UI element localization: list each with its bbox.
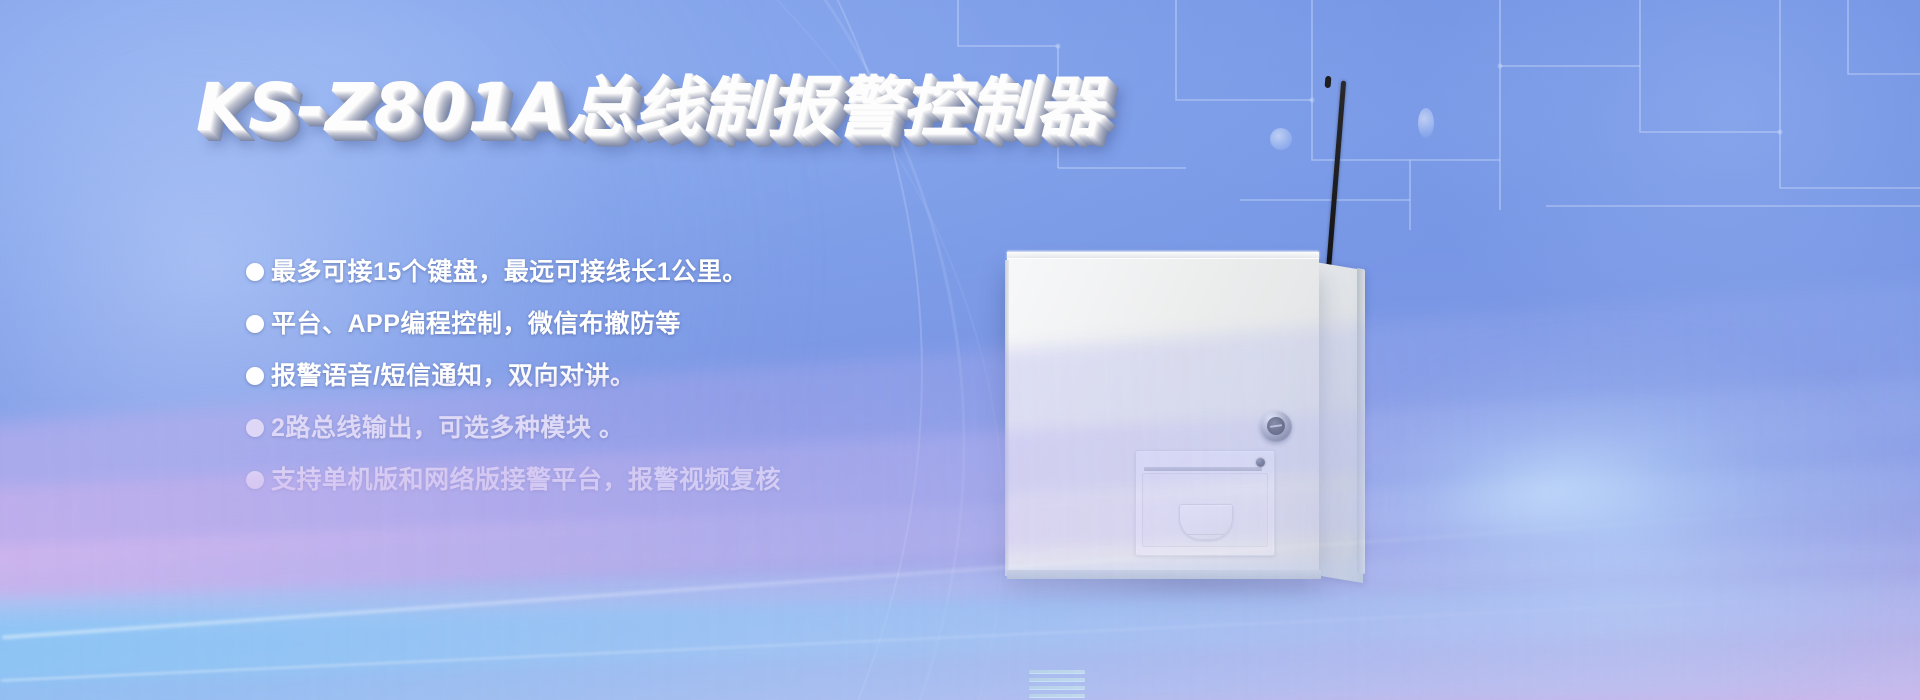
vent-slot bbox=[1029, 686, 1085, 689]
feature-list: 最多可接15个键盘，最远可接线长1公里。 平台、APP编程控制，微信布撤防等 报… bbox=[246, 252, 1086, 500]
bullet-icon bbox=[246, 419, 264, 437]
keypad-knob bbox=[1179, 504, 1233, 540]
feature-text: 平台、APP编程控制，微信布撤防等 bbox=[271, 304, 681, 344]
antenna-tip bbox=[1325, 76, 1332, 88]
bullet-icon bbox=[246, 471, 264, 489]
keypad-knob-line bbox=[1188, 534, 1224, 535]
vent-slot bbox=[1029, 670, 1085, 673]
bullet-icon bbox=[246, 315, 264, 333]
feature-text: 2路总线输出，可选多种模块 。 bbox=[271, 408, 624, 448]
feature-text: 报警语音/短信通知，双向对讲。 bbox=[271, 356, 635, 396]
feature-item: 最多可接15个键盘，最远可接线长1公里。 bbox=[246, 252, 1086, 292]
feature-text: 支持单机版和网络版接警平台，报警视频复核 bbox=[271, 460, 781, 500]
feature-item: 平台、APP编程控制，微信布撤防等 bbox=[246, 304, 1086, 344]
vent-slot bbox=[1029, 678, 1085, 681]
keypad-window-slot bbox=[1144, 467, 1262, 471]
enclosure-left-edge bbox=[1005, 260, 1009, 576]
bullet-icon bbox=[246, 263, 264, 281]
feature-item: 2路总线输出，可选多种模块 。 bbox=[246, 408, 1086, 448]
page-title: KS-Z801A总线制报警控制器 bbox=[196, 75, 1103, 141]
feature-text: 最多可接15个键盘，最远可接线长1公里。 bbox=[271, 252, 748, 292]
feature-item: 支持单机版和网络版接警平台，报警视频复核 bbox=[246, 460, 1086, 500]
ventilation-slots bbox=[1029, 670, 1085, 700]
bullet-icon bbox=[246, 367, 264, 385]
product-banner: KS-Z801A总线制报警控制器 最多可接15个键盘，最远可接线长1公里。 平台… bbox=[0, 0, 1920, 700]
vent-slot bbox=[1029, 694, 1085, 697]
title-block: KS-Z801A总线制报警控制器 bbox=[196, 75, 1103, 141]
feature-item: 报警语音/短信通知，双向对讲。 bbox=[246, 356, 1086, 396]
